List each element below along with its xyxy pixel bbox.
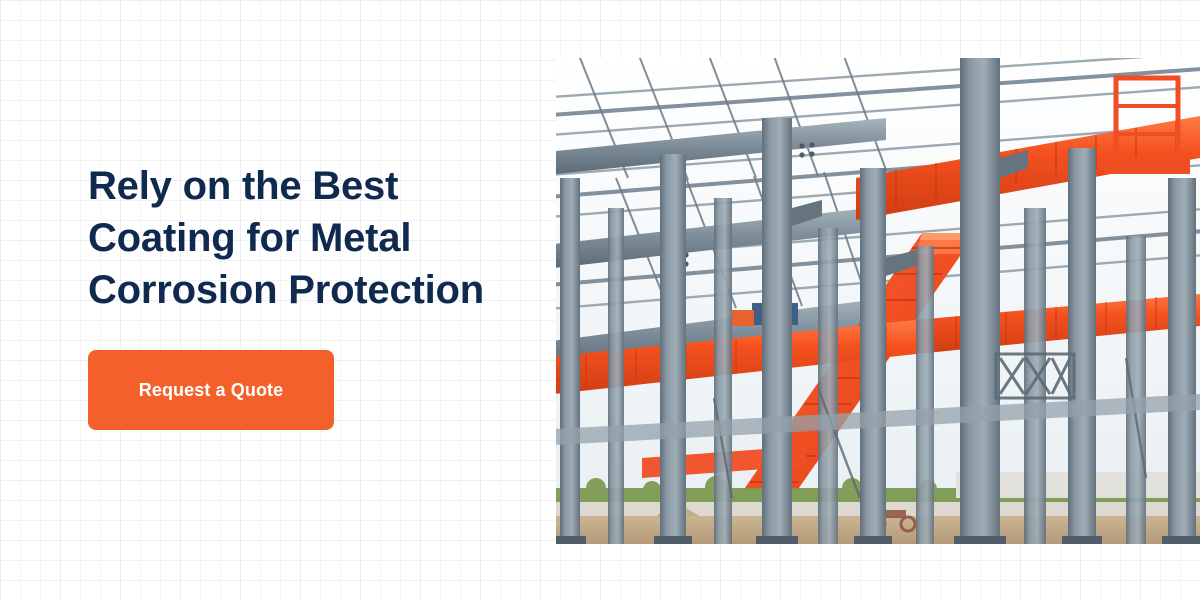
- hero-photo: [556, 58, 1200, 544]
- steel-structure-illustration: [556, 58, 1200, 544]
- request-a-quote-button[interactable]: Request a Quote: [88, 350, 334, 430]
- cta-container: Request a Quote: [88, 350, 334, 430]
- hero-copy: Rely on the Best Coating for Metal Corro…: [88, 160, 528, 316]
- hero-banner: Rely on the Best Coating for Metal Corro…: [0, 0, 1200, 600]
- page-title: Rely on the Best Coating for Metal Corro…: [88, 160, 528, 316]
